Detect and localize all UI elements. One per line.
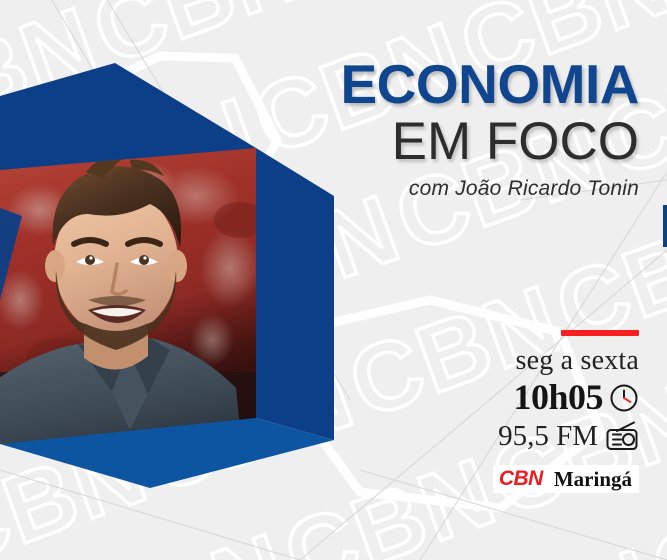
broadcast-time-row: 10h05 — [339, 379, 639, 417]
clock-icon — [609, 383, 639, 413]
poster: CBN — [0, 0, 667, 560]
host-credit: com João Ricardo Tonin — [219, 177, 639, 201]
red-divider — [561, 330, 639, 336]
cbn-city-label: Maringá — [548, 465, 639, 493]
page-subtitle: EM FOCO — [219, 114, 639, 169]
broadcast-days: seg a sexta — [339, 346, 639, 377]
schedule-block: seg a sexta 10h05 95,5 FM — [339, 330, 639, 493]
page-title: ECONOMIA — [219, 56, 639, 112]
right-edge-accent — [663, 205, 667, 247]
cbn-maringa-logo: CBN Maringá — [339, 465, 639, 493]
broadcast-frequency: 95,5 FM — [498, 421, 598, 451]
broadcast-time: 10h05 — [513, 379, 603, 417]
cbn-brand-label: CBN — [493, 465, 548, 493]
radio-icon — [605, 421, 639, 451]
title-block: ECONOMIA EM FOCO com João Ricardo Tonin — [219, 56, 639, 201]
broadcast-frequency-row: 95,5 FM — [339, 421, 639, 451]
